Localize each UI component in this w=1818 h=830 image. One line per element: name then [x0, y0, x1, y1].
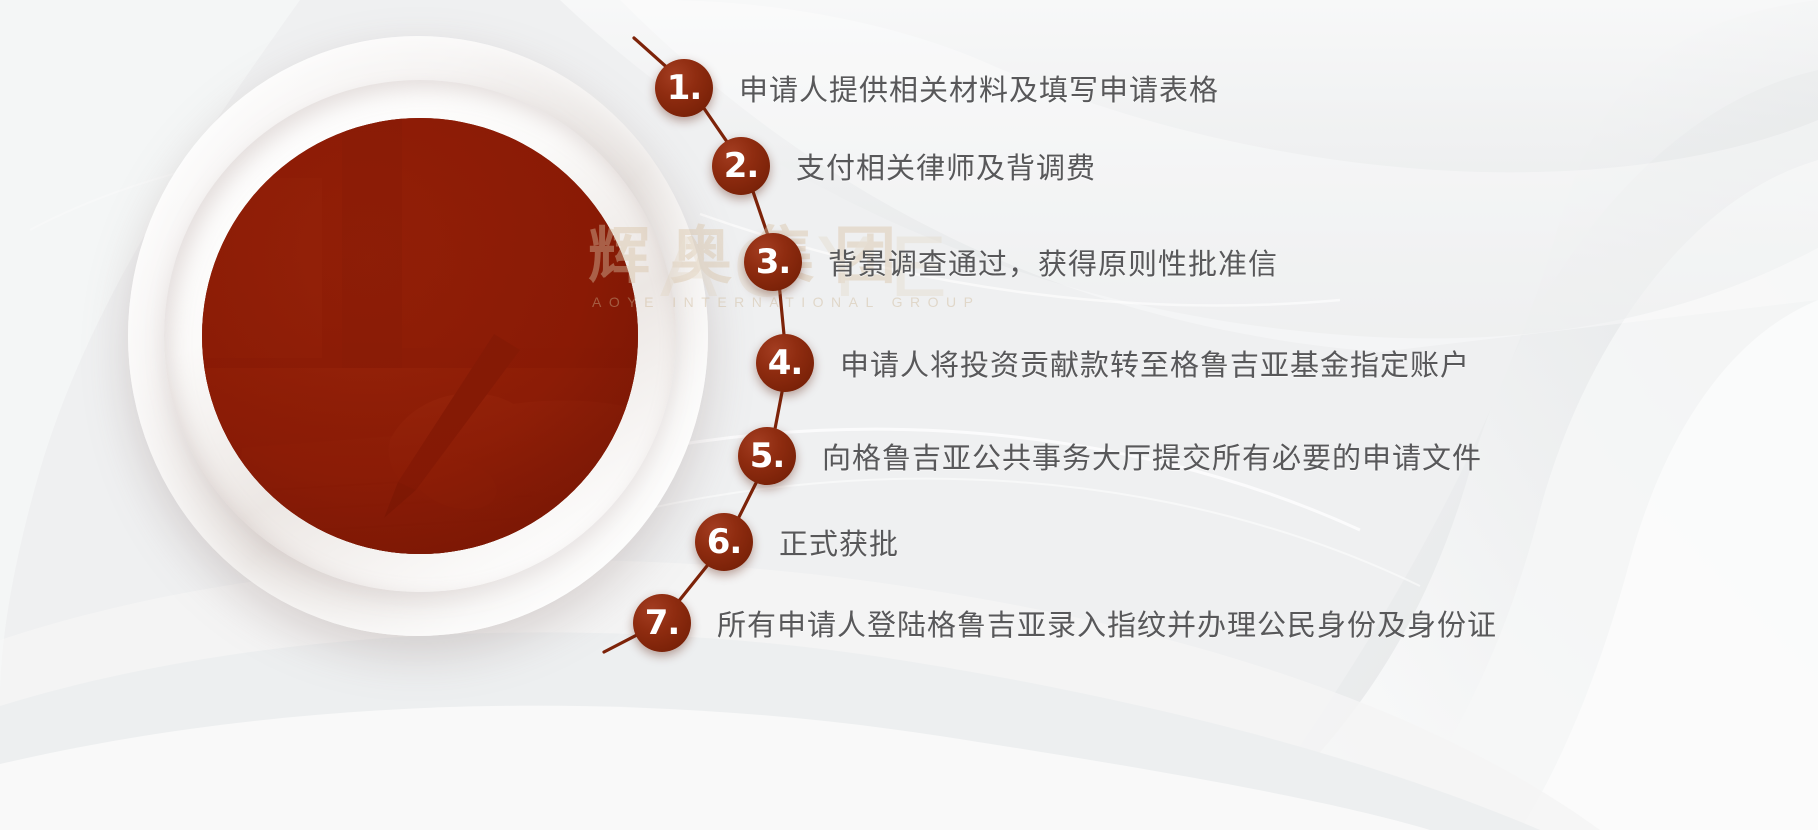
- process-step-7: 7. 所有申请人登陆格鲁吉亚录入指纹并办理公民身份及身份证: [633, 594, 1497, 652]
- step-label-3: 背景调查通过，获得原则性批准信: [828, 241, 1278, 283]
- step-number-badge-1: 1.: [655, 59, 713, 117]
- process-step-5: 5. 向格鲁吉亚公共事务大厅提交所有必要的申请文件: [738, 427, 1482, 485]
- process-steps-list: 1. 申请人提供相关材料及填写申请表格 2. 支付相关律师及背调费 3. 背景调…: [0, 0, 1818, 830]
- process-step-2: 2. 支付相关律师及背调费: [712, 137, 1096, 195]
- step-label-2: 支付相关律师及背调费: [796, 145, 1096, 187]
- step-number-badge-3: 3.: [744, 233, 802, 291]
- step-number-badge-2: 2.: [712, 137, 770, 195]
- process-step-1: 1. 申请人提供相关材料及填写申请表格: [655, 59, 1219, 117]
- step-label-5: 向格鲁吉亚公共事务大厅提交所有必要的申请文件: [822, 435, 1482, 477]
- step-label-4: 申请人将投资贡献款转至格鲁吉亚基金指定账户: [840, 342, 1470, 384]
- process-step-4: 4. 申请人将投资贡献款转至格鲁吉亚基金指定账户: [756, 334, 1470, 392]
- slide-canvas: AOYE 辉奥集团 AOYE INTERNATIONAL GROUP 1. 申请…: [0, 0, 1818, 830]
- step-number-badge-4: 4.: [756, 334, 814, 392]
- process-step-3: 3. 背景调查通过，获得原则性批准信: [744, 233, 1278, 291]
- step-number-badge-5: 5.: [738, 427, 796, 485]
- process-step-6: 6. 正式获批: [695, 513, 899, 571]
- step-label-1: 申请人提供相关材料及填写申请表格: [739, 67, 1219, 109]
- step-number-badge-7: 7.: [633, 594, 691, 652]
- step-number-badge-6: 6.: [695, 513, 753, 571]
- step-label-6: 正式获批: [779, 521, 899, 563]
- step-label-7: 所有申请人登陆格鲁吉亚录入指纹并办理公民身份及身份证: [717, 602, 1497, 644]
